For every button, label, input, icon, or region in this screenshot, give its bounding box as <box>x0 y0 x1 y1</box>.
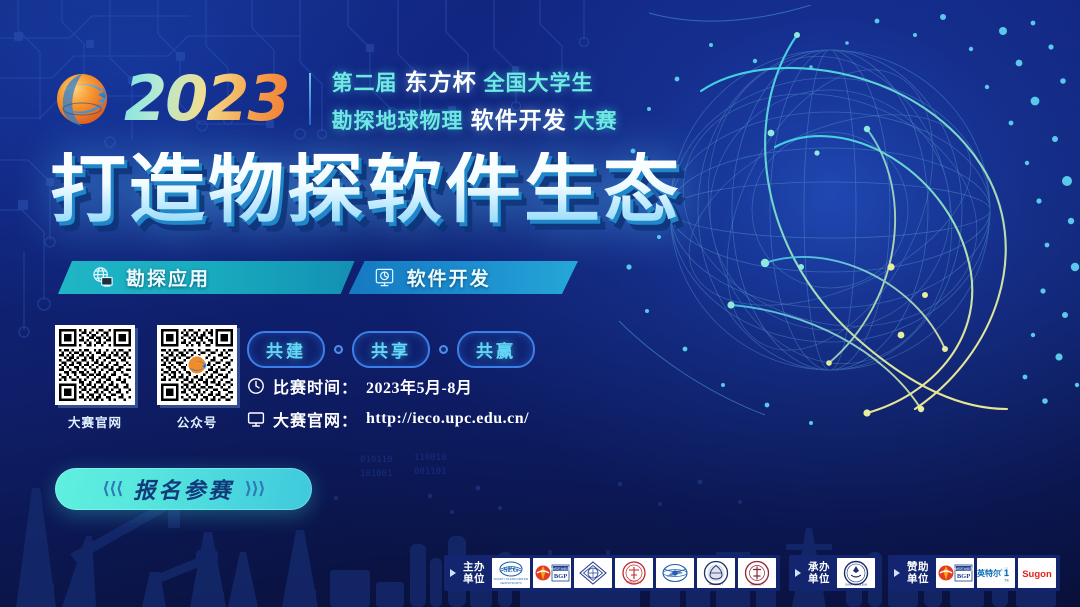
intel-logo: 英特尔 ® 1 至强 <box>977 558 1015 588</box>
chart-window-icon <box>373 266 396 289</box>
header-divider <box>309 73 311 125</box>
globe-monitor-icon <box>92 266 115 289</box>
footer-label-host: 承办单位 <box>806 561 832 586</box>
sugon-logo: Sugon <box>1018 558 1056 588</box>
svg-text:中国石油集团: 中国石油集团 <box>954 566 972 571</box>
qr-cell-wechat: 公众号 <box>157 325 237 431</box>
info-row-schedule: 比赛时间： 2023年5月-8月 <box>247 374 529 398</box>
header-brand-row: 2023 第二届 东方杯 全国大学生 勘探地球物理 软件开发 大赛 <box>52 63 618 135</box>
footer-label-sponsors: 赞助单位 <box>905 561 931 586</box>
chevron-item-exploration: 勘探应用 <box>58 261 355 294</box>
qr-code-website[interactable] <box>55 325 135 405</box>
register-button-label: 报名参赛 <box>133 473 233 505</box>
info-value-schedule: 2023年5月-8月 <box>366 374 472 398</box>
register-button[interactable]: ⟨⟨⟨ 报名参赛 ⟩⟩⟩ <box>55 468 312 510</box>
svg-text:UNIVERSITY: UNIVERSITY <box>709 583 724 586</box>
upc-university-seal-logo: CHINA PETROLEUM <box>837 558 875 588</box>
clock-icon <box>247 377 265 395</box>
svg-text:SOCIETY OF EXPLORATION: SOCIETY OF EXPLORATION <box>494 577 529 581</box>
info-block: 比赛时间： 2023年5月-8月 大赛官网： http://ieco.upc.e… <box>247 374 529 431</box>
chevron-item-software: 软件开发 <box>349 261 578 294</box>
header-line1-prefix: 第二届 <box>332 67 398 97</box>
info-label-schedule: 比赛时间： <box>273 374 358 398</box>
info-value-website: http://ieco.upc.edu.cn/ <box>366 410 529 428</box>
seg-logo: SEG SOCIETY OF EXPLORATION GEOPHYSICISTS <box>492 558 530 588</box>
header-line-2: 勘探地球物理 软件开发 大赛 <box>332 101 618 135</box>
svg-text:Sugon: Sugon <box>1022 569 1052 580</box>
sponsor-footer-bar: 主办单位 SEG SOCIETY OF EXPLORATION GEOPHYSI… <box>444 555 1060 591</box>
university-seal-red-logo: 中国地质大学 <box>615 558 653 588</box>
header-line2-prefix: 勘探地球物理 <box>332 105 464 135</box>
qr-cell-website: 大赛官网 <box>55 325 135 431</box>
footer-logos-sponsors: 中国石油集团 BGP 英特尔 ® 1 至强 <box>936 558 1056 588</box>
svg-text:CHINA PETROLEUM: CHINA PETROLEUM <box>845 584 867 587</box>
cnpc-bgp-sponsor-logo: 中国石油集团 BGP <box>936 558 974 588</box>
pill-gongjian: 共建 <box>247 331 325 368</box>
svg-text:001101: 001101 <box>414 467 447 477</box>
header-line2-suffix: 大赛 <box>574 105 618 135</box>
footer-group-sponsors: 赞助单位 中国石油集团 BGP <box>888 555 1060 591</box>
svg-text:中国石油集团: 中国石油集团 <box>551 566 569 571</box>
pill-gongxiang: 共享 <box>352 331 430 368</box>
wireframe-globe-graphic <box>615 5 1080 435</box>
chevron-left-decor: ⟨⟨⟨ <box>102 479 122 499</box>
header-line2-emphasis: 软件开发 <box>471 101 567 135</box>
footer-logos-organizers: SEG SOCIETY OF EXPLORATION GEOPHYSICISTS… <box>492 558 776 588</box>
cnpc-bgp-logo: 中国石油集团 BGP <box>533 558 571 588</box>
footer-group-host: 承办单位 CHINA PETROLEUM <box>789 555 879 591</box>
footer-group-organizers: 主办单位 SEG SOCIETY OF EXPLORATION GEOPHYSI… <box>444 555 780 591</box>
header-line1-emphasis: 东方杯 <box>405 63 477 97</box>
svg-text:BGP: BGP <box>554 573 567 580</box>
university-seal-blue-logo <box>656 558 694 588</box>
info-row-website: 大赛官网： http://ieco.upc.edu.cn/ <box>247 407 529 431</box>
svg-text:110010: 110010 <box>414 453 447 463</box>
slogan-pill-group: 共建 共享 共赢 <box>247 331 535 368</box>
qr-label-wechat: 公众号 <box>177 412 218 431</box>
globe-arrows-logo-icon <box>52 69 112 129</box>
qr-code-group: 大赛官网 <box>55 325 237 431</box>
footer-label-organizers: 主办单位 <box>461 561 487 586</box>
svg-text:1: 1 <box>1004 568 1009 578</box>
year-2023: 2023 <box>124 68 293 130</box>
svg-text:中国地质大学: 中国地质大学 <box>626 580 642 584</box>
triangle-right-icon <box>450 569 456 577</box>
header-line-1: 第二届 东方杯 全国大学生 <box>332 63 618 97</box>
svg-text:BGP: BGP <box>957 573 970 580</box>
header-line1-suffix: 全国大学生 <box>484 67 594 97</box>
svg-text:SEG: SEG <box>503 565 518 574</box>
pill-gongying: 共赢 <box>457 331 535 368</box>
svg-text:101001: 101001 <box>360 469 393 479</box>
footer-logos-host: CHINA PETROLEUM <box>837 558 875 588</box>
university-seal-crimson-logo: UNIVERSITY <box>738 558 776 588</box>
poster-root: 010110101001 110010001101 <box>0 0 1080 607</box>
qr-code-wechat[interactable] <box>157 325 237 405</box>
chevron-right-decor: ⟩⟩⟩ <box>245 479 265 499</box>
geophysical-society-logo <box>574 558 612 588</box>
qr-label-website: 大赛官网 <box>68 412 122 431</box>
chevron-item-software-label: 软件开发 <box>407 264 491 291</box>
triangle-right-icon <box>795 569 801 577</box>
chevron-item-exploration-label: 勘探应用 <box>126 264 210 291</box>
pill-separator-dot-2 <box>439 345 448 354</box>
svg-text:UNIVERSITY: UNIVERSITY <box>750 585 764 587</box>
category-chevron-bar: 勘探应用 软件开发 <box>58 261 578 294</box>
pill-separator-dot-1 <box>334 345 343 354</box>
svg-text:英特尔: 英特尔 <box>977 568 1001 578</box>
svg-text:GEOPHYSICISTS: GEOPHYSICISTS <box>500 581 521 585</box>
page-title: 打造物探软件生态 <box>50 152 682 228</box>
triangle-right-icon <box>894 569 900 577</box>
monitor-icon <box>247 410 265 428</box>
svg-text:010110: 010110 <box>360 455 393 465</box>
info-label-website: 大赛官网： <box>273 407 358 431</box>
university-seal-navy-logo: UNIVERSITY <box>697 558 735 588</box>
